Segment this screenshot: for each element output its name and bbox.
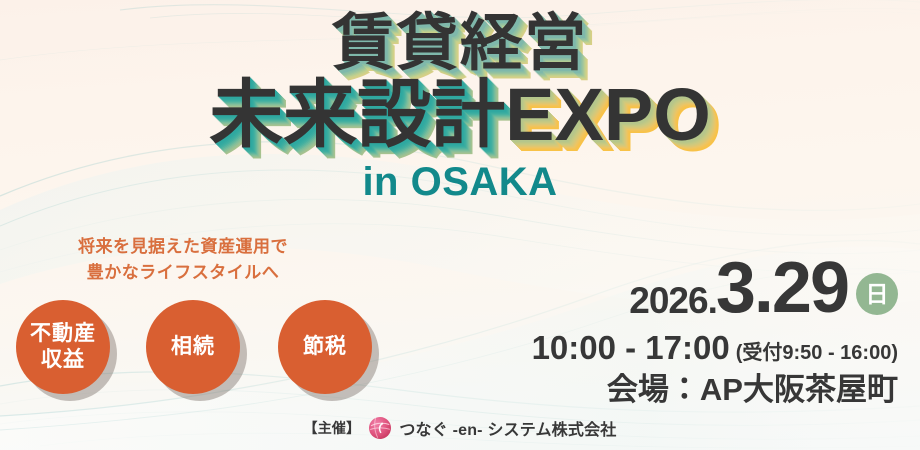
- event-year: 2026.: [629, 282, 717, 324]
- topic-circle-line: 不動産: [30, 321, 96, 347]
- topic-circle-line: 相続: [171, 334, 215, 360]
- topic-circle-line: 収益: [41, 347, 85, 373]
- event-info: 2026. 3.29 日 10:00 - 17:00(受付9:50 - 16:0…: [532, 252, 898, 405]
- host-company-name: つなぐ -en- システム株式会社: [399, 416, 616, 440]
- headline-line-2-japanese: 未来設計: [209, 73, 505, 156]
- event-venue: 会場：AP大阪茶屋町: [532, 374, 898, 405]
- event-time-row: 10:00 - 17:00(受付9:50 - 16:00): [532, 331, 898, 364]
- topic-circle-real-estate-income: 不動産 収益: [16, 300, 110, 394]
- topic-circle-line: 節税: [303, 334, 347, 360]
- event-time: 10:00 - 17:00: [532, 329, 730, 366]
- event-date-row: 2026. 3.29 日: [532, 252, 898, 324]
- tagline-line-2: 豊かなライフスタイルへ: [18, 260, 348, 286]
- event-day: 3.29: [716, 252, 848, 324]
- headline-block: 賃貸経営 未来設計EXPO in OSAKA: [0, 0, 920, 205]
- tagline-line-1: 将来を見据えた資産運用で: [18, 234, 348, 260]
- event-reception-time: (受付9:50 - 16:00): [736, 342, 898, 364]
- headline-line-1: 賃貸経営: [0, 8, 920, 79]
- tsunagu-sphere-logo-icon: [368, 416, 392, 440]
- day-of-week-badge: 日: [856, 273, 898, 315]
- footer-host-line: 【主催】 つなぐ -en- システム株式会社: [0, 416, 920, 440]
- event-banner: 賃貸経営 未来設計EXPO in OSAKA 将来を見据えた資産運用で 豊かなラ…: [0, 0, 920, 450]
- headline-line-2: 未来設計EXPO: [0, 73, 920, 157]
- headline-line-2-expo: EXPO: [505, 73, 711, 156]
- topic-circle-inheritance: 相続: [146, 300, 240, 394]
- host-label: 【主催】: [304, 418, 361, 438]
- tagline: 将来を見据えた資産運用で 豊かなライフスタイルへ: [18, 234, 348, 287]
- topic-circle-tax-saving: 節税: [278, 300, 372, 394]
- headline-line-3-location: in OSAKA: [0, 160, 920, 205]
